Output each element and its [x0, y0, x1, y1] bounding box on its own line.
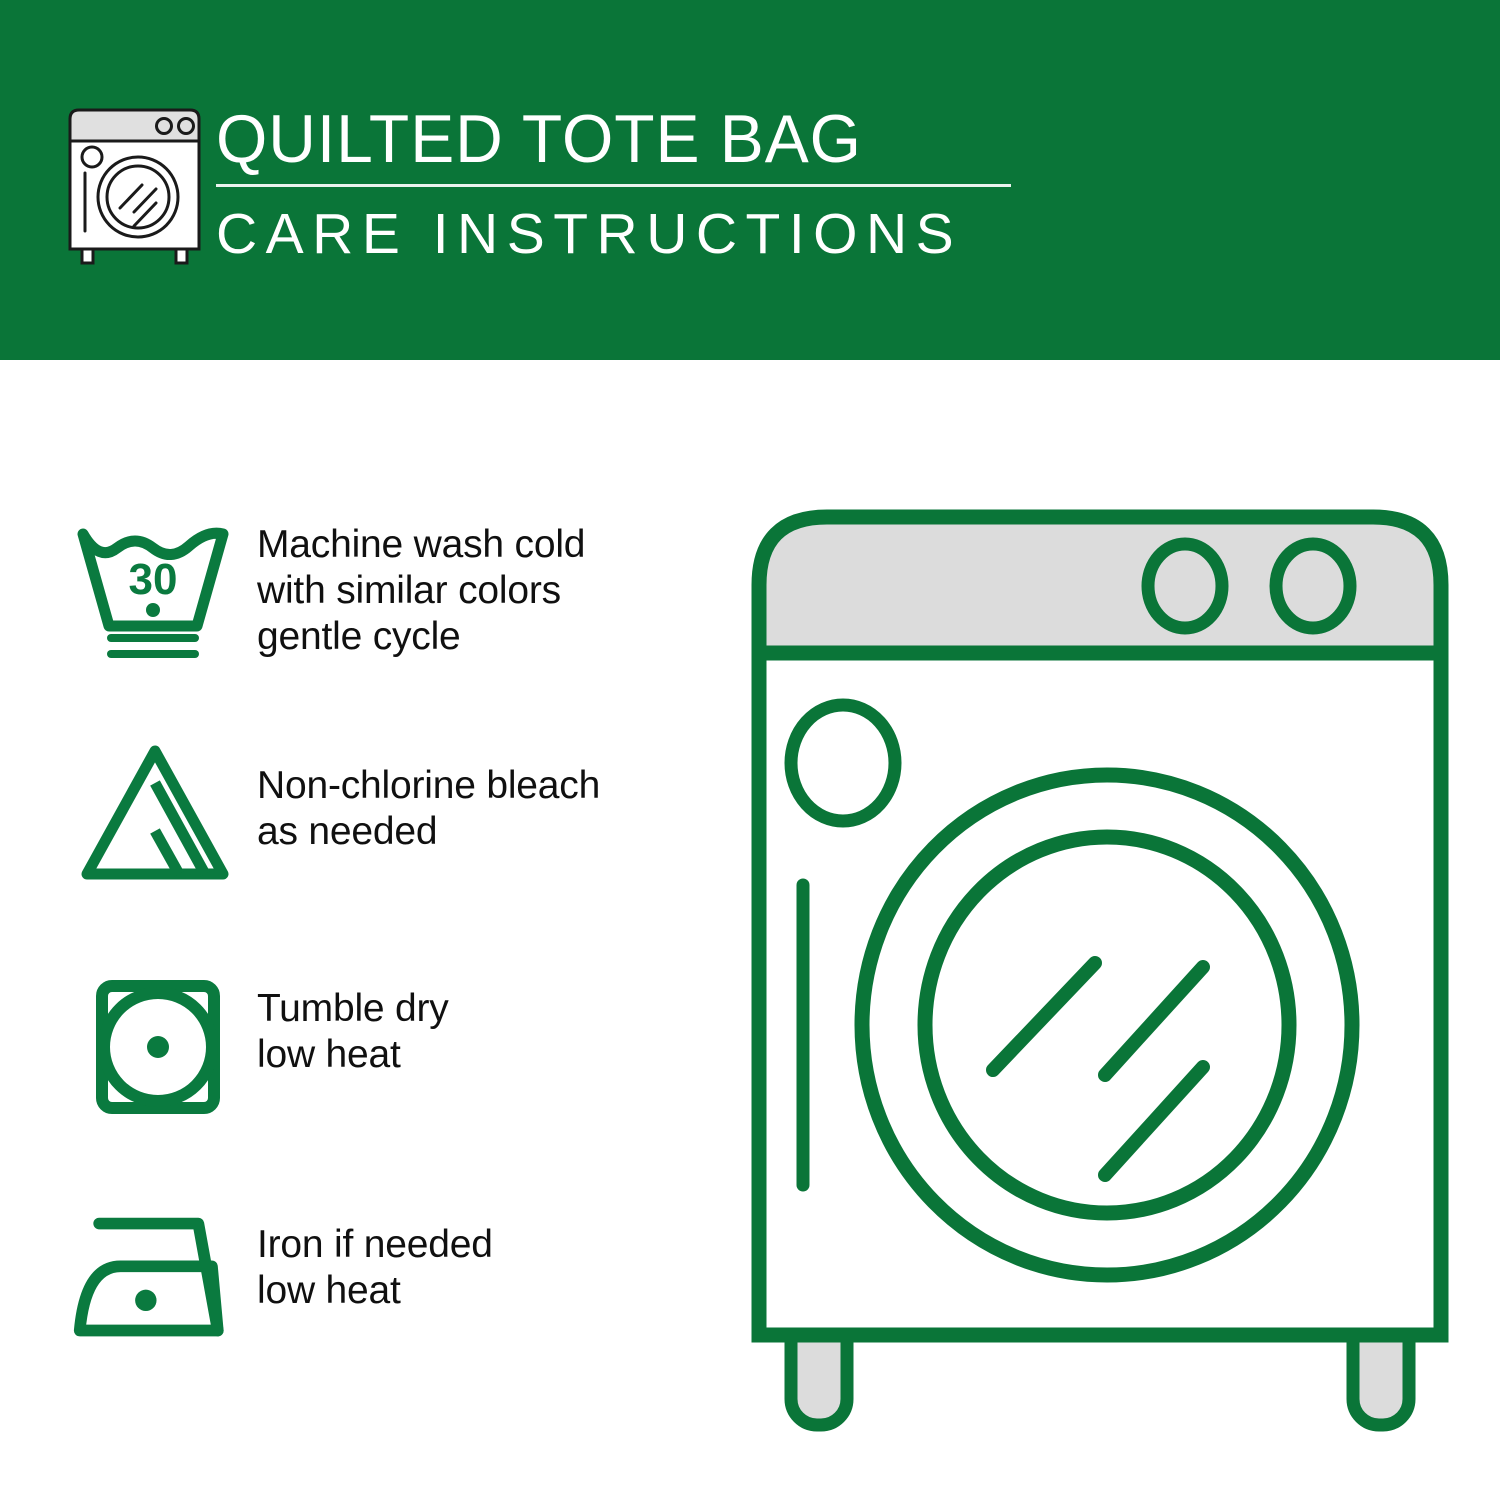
wash-temperature-label: 30 — [128, 555, 177, 604]
instruction-line: as needed — [257, 809, 710, 855]
instruction-line: gentle cycle — [257, 614, 710, 660]
wash-tub-30-gentle-icon: 30 — [70, 500, 245, 662]
instruction-text: Iron if needed low heat — [245, 1180, 710, 1314]
care-instructions-infographic: QUILTED TOTE BAG CARE INSTRUCTIONS 30 — [0, 0, 1500, 1500]
non-chlorine-bleach-triangle-icon — [70, 715, 245, 891]
instruction-line: low heat — [257, 1268, 710, 1314]
instruction-text: Tumble dry low heat — [245, 950, 710, 1078]
care-instruction-list: 30 Machine wash cold with similar colors… — [70, 500, 710, 1410]
page-title: QUILTED TOTE BAG — [216, 100, 1002, 178]
list-item: Iron if needed low heat — [70, 1180, 710, 1410]
instruction-line: Iron if needed — [257, 1222, 710, 1268]
list-item: Non-chlorine bleach as needed — [70, 715, 710, 950]
instruction-line: Non-chlorine bleach — [257, 763, 710, 809]
washing-machine-icon — [62, 107, 207, 267]
header-text-block: QUILTED TOTE BAG CARE INSTRUCTIONS — [216, 100, 1026, 267]
instruction-line: low heat — [257, 1032, 710, 1078]
instruction-text: Machine wash cold with similar colors ge… — [245, 500, 710, 660]
list-item: 30 Machine wash cold with similar colors… — [70, 500, 710, 715]
list-item: Tumble dry low heat — [70, 950, 710, 1180]
page-subtitle: CARE INSTRUCTIONS — [216, 201, 1026, 267]
washing-machine-illustration — [735, 485, 1465, 1445]
title-divider — [216, 184, 1011, 187]
instruction-line: Machine wash cold — [257, 522, 710, 568]
tumble-dry-low-icon — [70, 950, 245, 1122]
instruction-line: Tumble dry — [257, 986, 710, 1032]
header-banner: QUILTED TOTE BAG CARE INSTRUCTIONS — [0, 0, 1500, 360]
iron-low-heat-icon — [70, 1180, 245, 1348]
instruction-line: with similar colors — [257, 568, 710, 614]
instruction-text: Non-chlorine bleach as needed — [245, 715, 710, 855]
